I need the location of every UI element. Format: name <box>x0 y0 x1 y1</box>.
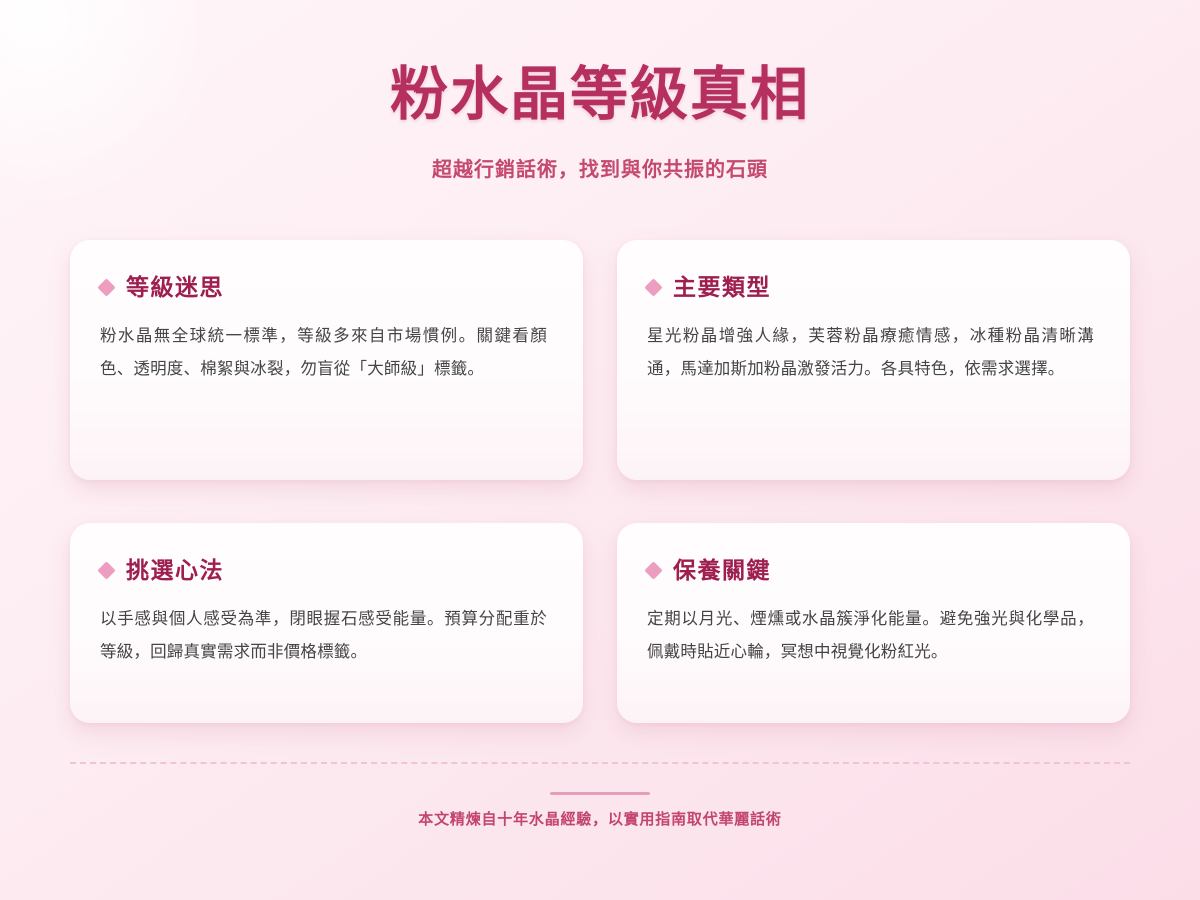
cards-grid: 等級迷思 粉水晶無全球統一標準，等級多來自市場慣例。關鍵看顏色、透明度、棉絮與冰… <box>70 240 1130 723</box>
card-main-types: 主要類型 星光粉晶增強人緣，芙蓉粉晶療癒情感，冰種粉晶清晰溝通，馬達加斯加粉晶激… <box>617 240 1130 480</box>
card-title: 保養關鍵 <box>673 557 771 585</box>
page-footer: 本文精煉自十年水晶經驗，以實用指南取代華麗話術 <box>70 762 1130 829</box>
footer-divider <box>70 762 1130 764</box>
card-body-text: 以手感與個人感受為準，閉眼握石感受能量。預算分配重於等級，回歸真實需求而非價格標… <box>100 603 547 669</box>
card-header: 挑選心法 <box>100 557 547 585</box>
card-selection-tips: 挑選心法 以手感與個人感受為準，閉眼握石感受能量。預算分配重於等級，回歸真實需求… <box>70 523 583 723</box>
card-header: 主要類型 <box>647 274 1094 302</box>
diamond-icon <box>97 279 115 297</box>
card-grade-myth: 等級迷思 粉水晶無全球統一標準，等級多來自市場慣例。關鍵看顏色、透明度、棉絮與冰… <box>70 240 583 480</box>
card-title: 挑選心法 <box>126 557 224 585</box>
card-body-text: 粉水晶無全球統一標準，等級多來自市場慣例。關鍵看顏色、透明度、棉絮與冰裂，勿盲從… <box>100 320 547 386</box>
card-header: 保養關鍵 <box>647 557 1094 585</box>
page-subtitle: 超越行銷話術，找到與你共振的石頭 <box>0 153 1200 182</box>
diamond-icon <box>644 279 662 297</box>
footer-note: 本文精煉自十年水晶經驗，以實用指南取代華麗話術 <box>70 808 1130 829</box>
card-care-key: 保養關鍵 定期以月光、煙燻或水晶簇淨化能量。避免強光與化學品，佩戴時貼近心輪，冥… <box>617 523 1130 723</box>
page-header: 粉水晶等級真相 超越行銷話術，找到與你共振的石頭 <box>0 0 1200 182</box>
page-title: 粉水晶等級真相 <box>0 62 1200 129</box>
card-title: 主要類型 <box>673 274 771 302</box>
diamond-icon <box>644 562 662 580</box>
footer-accent-bar <box>550 792 650 795</box>
diamond-icon <box>97 562 115 580</box>
infographic-page: 粉水晶等級真相 超越行銷話術，找到與你共振的石頭 等級迷思 粉水晶無全球統一標準… <box>0 0 1200 900</box>
card-header: 等級迷思 <box>100 274 547 302</box>
card-title: 等級迷思 <box>126 274 224 302</box>
card-body-text: 星光粉晶增強人緣，芙蓉粉晶療癒情感，冰種粉晶清晰溝通，馬達加斯加粉晶激發活力。各… <box>647 320 1094 386</box>
card-body-text: 定期以月光、煙燻或水晶簇淨化能量。避免強光與化學品，佩戴時貼近心輪，冥想中視覺化… <box>647 603 1094 669</box>
